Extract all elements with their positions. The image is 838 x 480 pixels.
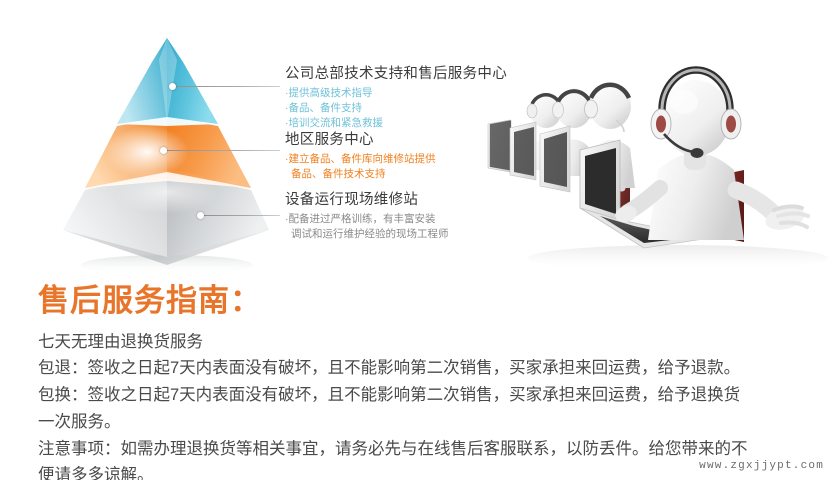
page-title: 售后服务指南： <box>38 283 818 319</box>
callout-onsite-station-item: 配备进过严格训练，有丰富安装 <box>285 212 449 227</box>
guide-line: 注意事项：如需办理退换货等相关事宜，请务必先与在线售后客服联系，以防丢件。给您带… <box>38 436 818 463</box>
pyramid-top-left-face <box>117 38 167 125</box>
three-tier-service-pyramid <box>55 22 290 272</box>
site-url-watermark: www.zgxjjypt.com <box>699 460 824 472</box>
callout-onsite-station-list: 配备进过严格训练，有丰富安装 调试和运行维护经验的现场工程师 <box>285 212 449 242</box>
callout-onsite-station: 设备运行现场维修站 配备进过严格训练，有丰富安装 调试和运行维护经验的现场工程师 <box>285 191 449 242</box>
connector-dot-hq <box>169 83 176 90</box>
callout-onsite-station-title: 设备运行现场维修站 <box>285 191 449 209</box>
guide-line: 一次服务。 <box>38 409 818 436</box>
connector-line-onsite <box>200 215 280 216</box>
after-sales-service-poster: 公司总部技术支持和售后服务中心 提供高级技术指导 备品、备件支持 培训交流和紧急… <box>0 0 838 480</box>
callout-regional-center-title: 地区服务中心 <box>285 131 436 149</box>
floor-shadow <box>528 245 828 271</box>
guide-line: 包换：签收之日起7天内表面没有破坏，且不能影响第二次销售，买家承担来回运费，给予… <box>38 382 818 409</box>
callout-regional-center-item: 备品、备件技术支持 <box>285 167 436 182</box>
call-center-agents-with-headsets <box>448 62 838 272</box>
connector-dot-regional <box>160 147 167 154</box>
connector-dot-onsite <box>197 212 204 219</box>
connector-line-hq <box>172 86 280 87</box>
callout-onsite-station-item: 调试和运行维护经验的现场工程师 <box>285 227 449 242</box>
guide-line: 包退：签收之日起7天内表面没有破坏，且不能影响第二次销售，买家承担来回运费，给予… <box>38 355 818 382</box>
pyramid-top-front-face <box>167 38 218 125</box>
callout-regional-center-list: 建立备品、备件库向维修站提供 备品、备件技术支持 <box>285 152 436 182</box>
callout-regional-center-item: 建立备品、备件库向维修站提供 <box>285 152 436 167</box>
after-sales-guide-section: 售后服务指南： 七天无理由退换货服务 包退：签收之日起7天内表面没有破坏，且不能… <box>38 283 818 480</box>
agent-head <box>662 80 730 156</box>
headset-mic <box>691 148 704 158</box>
connector-line-regional <box>163 150 280 151</box>
agent-1-foreground <box>613 70 808 242</box>
callout-regional-center: 地区服务中心 建立备品、备件库向维修站提供 备品、备件技术支持 <box>285 131 436 182</box>
guide-line: 七天无理由退换货服务 <box>38 329 818 356</box>
